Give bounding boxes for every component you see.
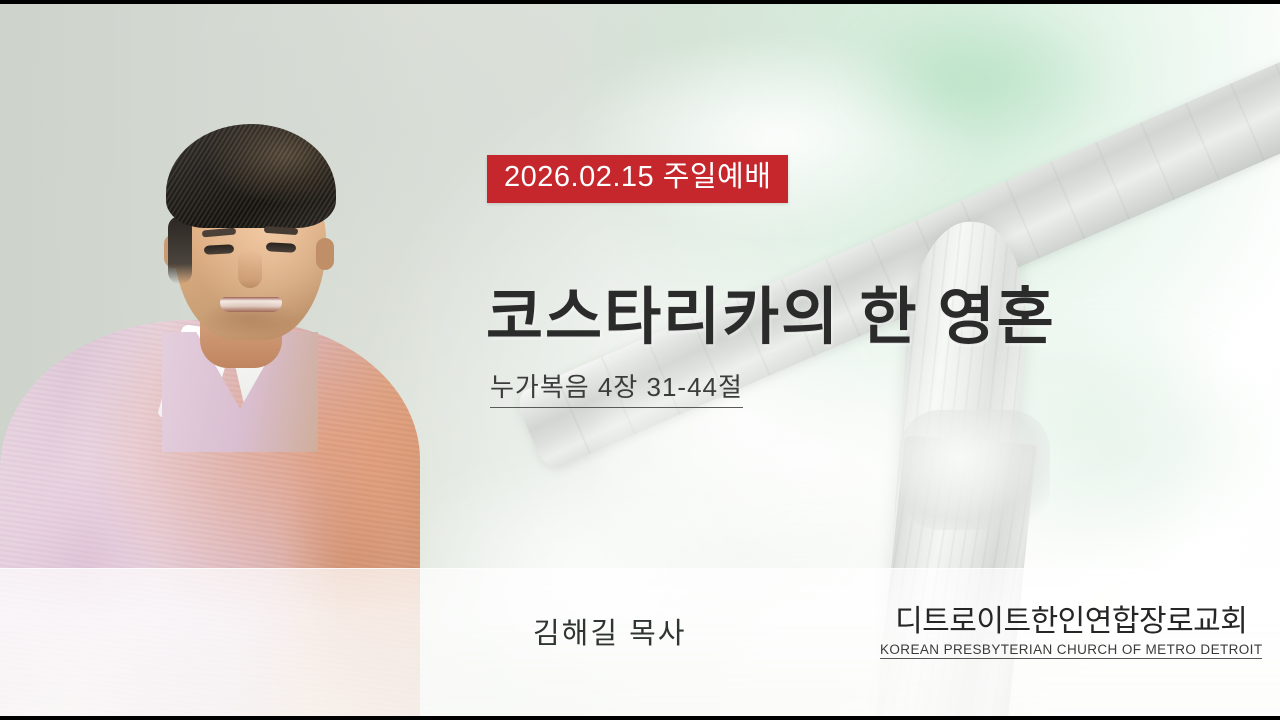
portrait-eye-right (266, 242, 296, 253)
church-name-korean: 디트로이트한인연합장로교회 (880, 605, 1262, 640)
portrait-eye-left (204, 244, 234, 255)
portrait-hair (166, 124, 336, 228)
church-name-english: KOREAN PRESBYTERIAN CHURCH OF METRO DETR… (880, 642, 1262, 659)
portrait-sideburn-left (168, 216, 192, 284)
portrait-nose (238, 250, 262, 288)
portrait-ear-right (316, 238, 334, 270)
sermon-title: 코스타리카의 한 영혼 (486, 266, 1056, 356)
service-date-badge: 2026.02.15 주일예배 (487, 155, 788, 203)
church-logo: 디트로이트한인연합장로교회 KOREAN PRESBYTERIAN CHURCH… (880, 605, 1262, 659)
letterbox-top-edge (0, 0, 1280, 4)
scripture-reference: 누가복음 4장 31-44절 (490, 367, 743, 408)
sermon-title-slide: 2026.02.15 주일예배 코스타리카의 한 영혼 누가복음 4장 31-4… (0, 0, 1280, 720)
portrait-chin-shadow (202, 300, 300, 336)
letterbox-bottom-edge (0, 716, 1280, 720)
preacher-name: 김해길 목사 (533, 610, 686, 652)
